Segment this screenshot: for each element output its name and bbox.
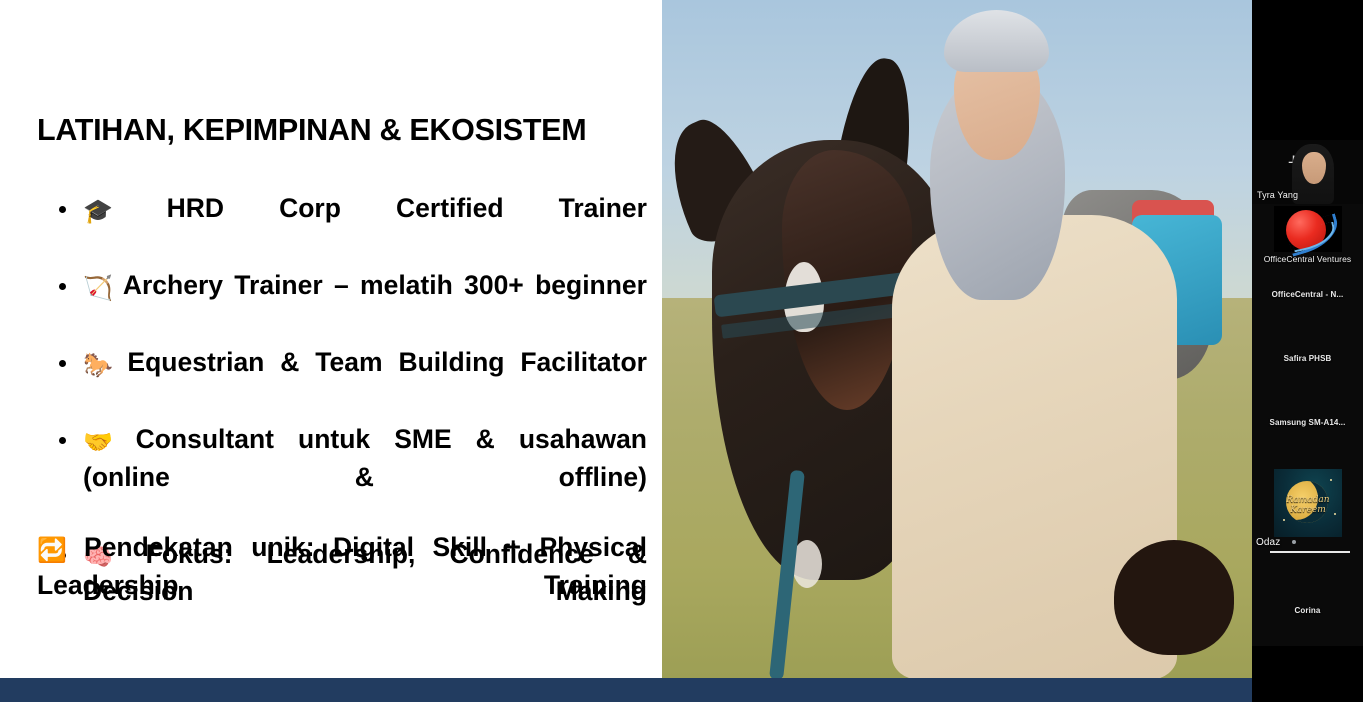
participant-tile-odaz[interactable]: Ramadan Kareem Odaz — [1252, 458, 1363, 586]
participant-name-label: Safira PHSB — [1252, 354, 1363, 363]
participant-tile-officecentral-ventures[interactable]: OfficeCentral Ventures — [1252, 204, 1363, 266]
slide-accent-bar — [0, 678, 1252, 702]
bullet-dot-icon — [59, 360, 66, 367]
active-speaker-underline — [1270, 551, 1350, 553]
slide-text-column: LATIHAN, KEPIMPINAN & EKOSISTEM 🎓HRD Cor… — [0, 0, 662, 678]
participant-name-label: Samsung SM-A14... — [1252, 418, 1363, 427]
participant-tile-safira-phsb[interactable]: Safira PHSB — [1252, 330, 1363, 394]
participant-tile-samsung-device[interactable]: Samsung SM-A14... — [1252, 394, 1363, 458]
graduation-cap-emoji: 🎓 — [83, 198, 161, 225]
participant-name-label: OfficeCentral Ventures — [1252, 254, 1363, 264]
meeting-screen-share-view: LATIHAN, KEPIMPINAN & EKOSISTEM 🎓HRD Cor… — [0, 0, 1363, 702]
list-item-label: Consultant untuk SME & usahawan (online … — [83, 424, 647, 492]
brand-logo — [1274, 206, 1342, 252]
avatar-caption: Ramadan Kareem — [1274, 495, 1342, 515]
participant-name-label: Tyra Yang — [1252, 190, 1363, 200]
participant-name-label: OfficeCentral - N... — [1252, 290, 1363, 299]
participant-name-label: Corina — [1252, 606, 1363, 615]
list-item: 🎓HRD Corp Certified Trainer — [37, 190, 647, 265]
handshake-emoji: 🤝 — [83, 429, 130, 456]
participant-name-label: Odaz — [1252, 537, 1363, 548]
slide-closing-line: 🔁Pendekatan unik: Digital Skill + Physic… — [37, 529, 647, 642]
list-item: 🐎Equestrian & Team Building Facilitator — [37, 344, 647, 419]
page-title: LATIHAN, KEPIMPINAN & EKOSISTEM — [37, 113, 586, 148]
bullet-dot-icon — [59, 283, 66, 290]
shared-slide: LATIHAN, KEPIMPINAN & EKOSISTEM 🎓HRD Cor… — [0, 0, 1252, 702]
slide-closing-line-label: Pendekatan unik: Digital Skill + Physica… — [37, 532, 647, 600]
list-item-label: HRD Corp Certified Trainer — [167, 193, 647, 223]
list-item: 🤝Consultant untuk SME & usahawan (online… — [37, 421, 647, 534]
bow-and-arrow-emoji: 🏹 — [83, 275, 117, 302]
list-item-label: Equestrian & Team Building Facilitator — [127, 347, 647, 377]
bullet-dot-icon — [59, 437, 66, 444]
star-icon — [1330, 479, 1332, 481]
participant-tile-corina[interactable]: Corina — [1252, 586, 1363, 646]
participant-tile-tyra-yang[interactable]: HUSTL ACA Tyra Yang — [1252, 140, 1363, 204]
star-icon — [1283, 519, 1285, 521]
bullet-dot-icon — [59, 206, 66, 213]
list-item-label: Archery Trainer – melatih 300+ beginner — [123, 270, 647, 300]
horse-emoji: 🐎 — [83, 352, 121, 379]
status-badge — [1292, 540, 1296, 544]
participant-filmstrip[interactable]: HUSTL ACA Tyra Yang OfficeCentral Ventur… — [1252, 0, 1363, 702]
photo-horse-hoof — [1114, 540, 1234, 655]
participant-avatar-image: Ramadan Kareem — [1274, 469, 1342, 537]
filmstrip-top-spacer — [1252, 0, 1363, 140]
slide-photo — [662, 0, 1252, 678]
participant-tile-officecentral-n[interactable]: OfficeCentral - N... — [1252, 266, 1363, 330]
repeat-emoji: 🔁 — [37, 537, 78, 564]
list-item: 🏹Archery Trainer – melatih 300+ beginner — [37, 267, 647, 342]
